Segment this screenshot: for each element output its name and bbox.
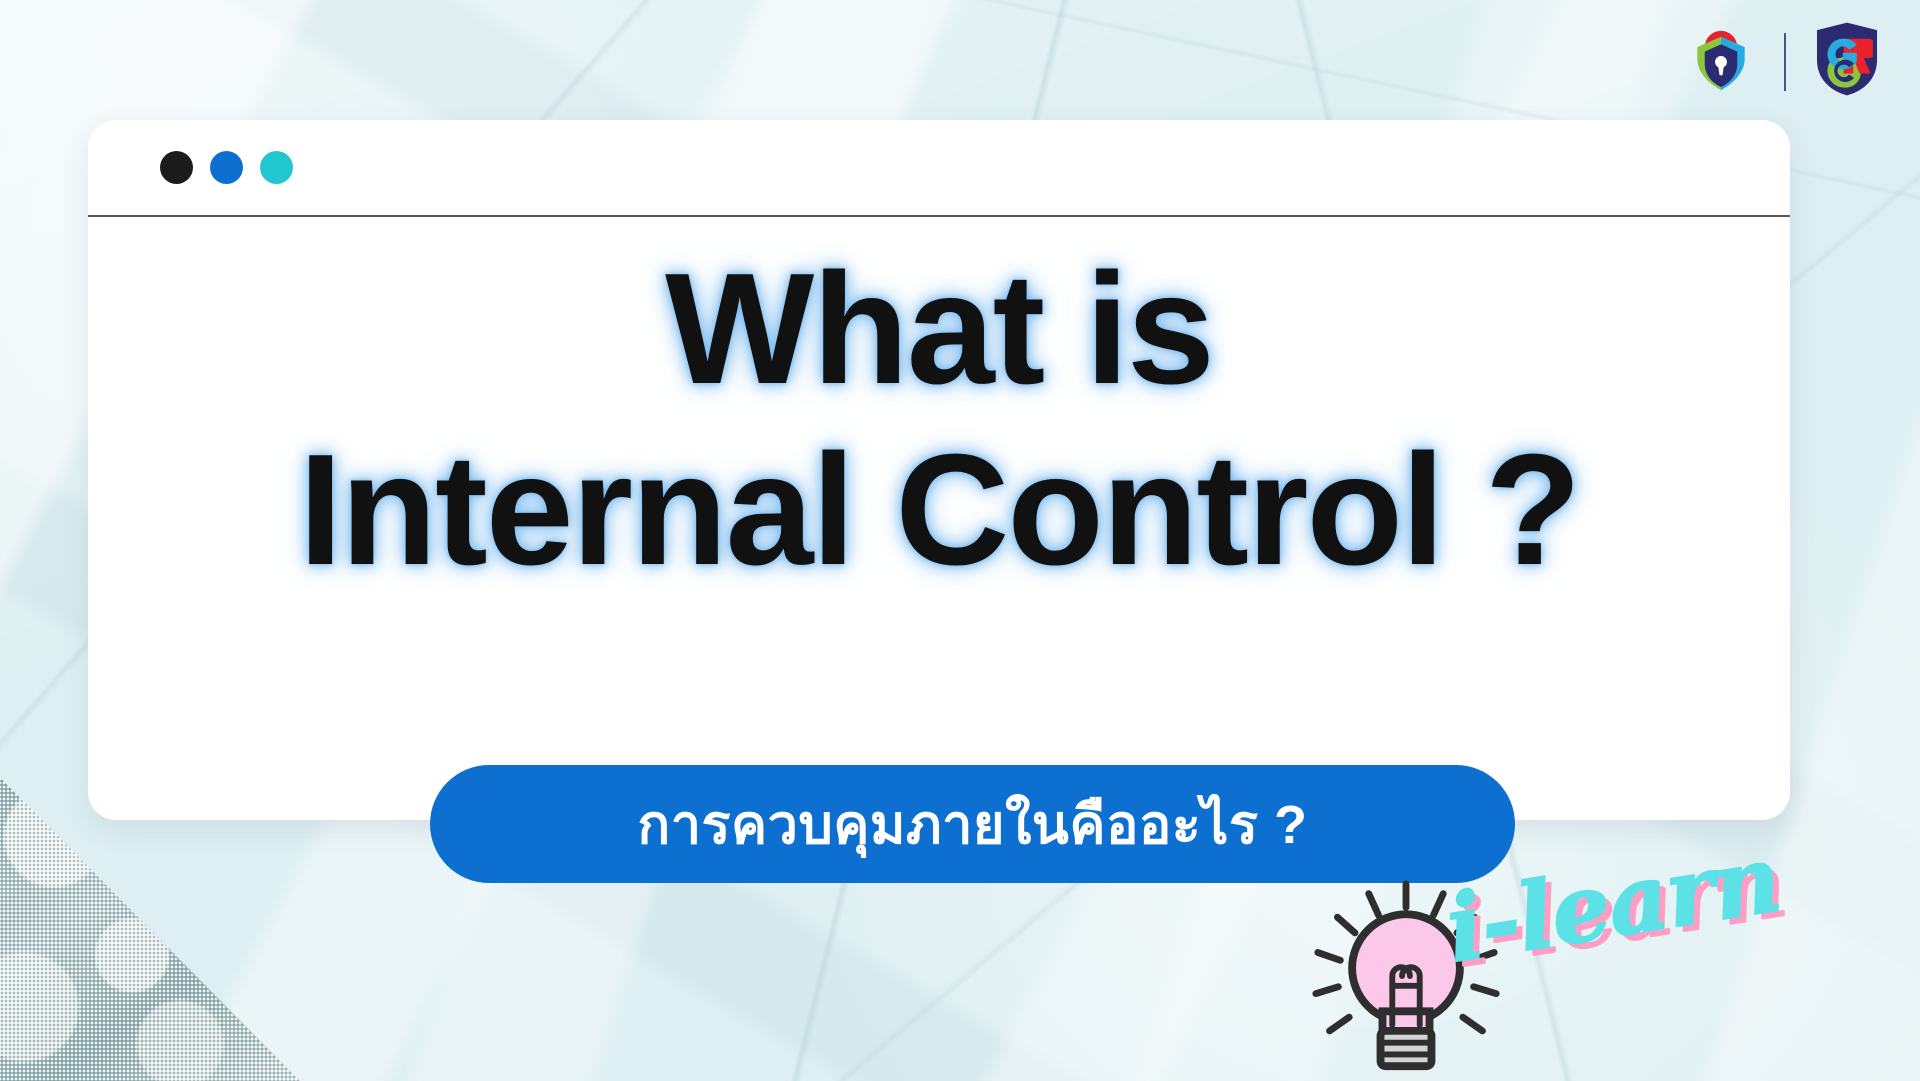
window-dots [160,151,293,184]
browser-title-bar [88,120,1790,215]
window-dot-black[interactable] [160,151,193,184]
thai-subtitle-pill: การควบคุมภายในคืออะไร ? [430,765,1515,883]
title-bar-separator [88,215,1790,217]
logo-divider [1784,33,1786,91]
window-dot-blue[interactable] [210,151,243,184]
headline-line-2: Internal Control ? [88,433,1790,588]
grc-shield-logo [1812,22,1882,101]
window-dot-teal[interactable] [260,151,293,184]
headline-line-1: What is [88,252,1790,407]
browser-card: What is Internal Control ? [88,120,1790,820]
thai-subtitle-label: การควบคุมภายในคืออะไร ? [638,781,1308,867]
padlock-shield-logo [1684,22,1758,101]
slide-canvas: What is Internal Control ? การควบคุมภายใ… [0,0,1920,1081]
page-title: What is Internal Control ? [88,252,1790,588]
logo-bar [1684,22,1882,101]
